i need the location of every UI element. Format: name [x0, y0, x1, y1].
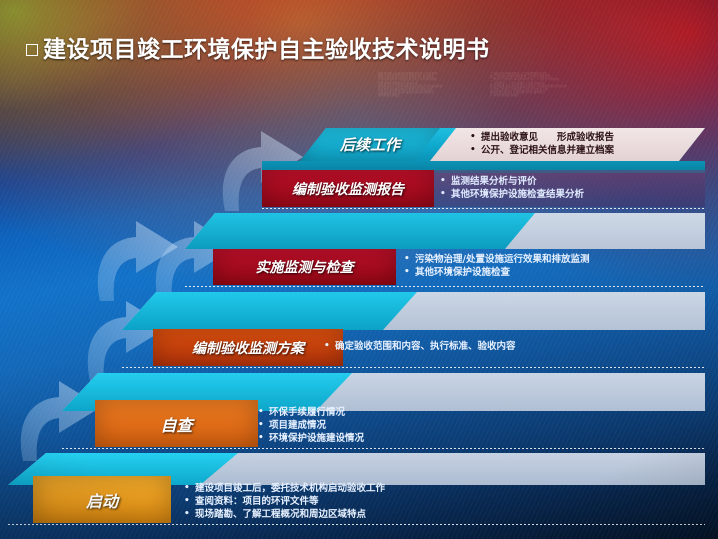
step-fangan-label: 编制验收监测方案 [153, 329, 343, 366]
step-houxu-bullet-1: 提出验收意见 形成验收报告 [470, 131, 614, 144]
slide-canvas: 建设项目竣工环境保护验收技术指南 污染影响类 根据《建设项目环境保护管理条例》有… [0, 0, 718, 539]
step-jiance-top-cyan [185, 213, 535, 249]
step-houxu-bullet-2: 公开、登记相关信息并建立档案 [470, 144, 614, 157]
step-qidong-bullet-3: 现场踏勘、了解工程概况和周边区域特点 [184, 508, 385, 521]
step-qidong-label: 启动 [33, 476, 171, 523]
step-baogao-bullet-2: 其他环境保护设施检查结果分析 [440, 188, 584, 201]
step-baogao-divider [262, 208, 705, 209]
step-fangan-bullet-1: 确定验收范围和内容、执行标准、验收内容 [324, 340, 516, 353]
step-qidong-bullet-1: 建设项目竣工后，委托技术机构启动验收工作 [184, 482, 385, 495]
step-zicha-bullet-3: 环境保护设施建设情况 [258, 432, 364, 445]
step-qidong-divider [8, 524, 705, 525]
step-jiance-bullet-1: 污染物治理/处置设施运行效果和排放监测 [404, 253, 589, 266]
step-fangan-top-cyan [122, 292, 417, 330]
step-qidong-bullet-2: 查阅资料：项目的环评文件等 [184, 495, 385, 508]
title-square-marker [26, 44, 38, 56]
page-title: 建设项目竣工环境保护自主验收技术说明书 [26, 30, 490, 64]
step-zicha-bullet-1: 环保手续履行情况 [258, 406, 364, 419]
step-jiance-label: 实施监测与检查 [213, 249, 396, 285]
step-jiance-bullets: 污染物治理/处置设施运行效果和排放监测 其他环境保护设施检查 [404, 253, 589, 279]
step-baogao-label: 编制验收监测报告 [262, 170, 434, 207]
step-houxu-bullets: 提出验收意见 形成验收报告 公开、登记相关信息并建立档案 [470, 131, 614, 157]
page-title-text: 建设项目竣工环境保护自主验收技术说明书 [43, 37, 490, 63]
step-baogao-bullets: 监测结果分析与评价 其他环境保护设施检查结果分析 [440, 175, 584, 201]
step-jiance-divider [185, 286, 705, 287]
step-zicha-divider [62, 448, 705, 449]
step-zicha-bullets: 环保手续履行情况 项目建成情况 环境保护设施建设情况 [258, 406, 364, 445]
step-jiance-bullet-2: 其他环境保护设施检查 [404, 266, 589, 279]
step-baogao-bullet-1: 监测结果分析与评价 [440, 175, 584, 188]
step-qidong-bullets: 建设项目竣工后，委托技术机构启动验收工作 查阅资料：项目的环评文件等 现场踏勘、… [184, 482, 385, 521]
step-fangan-bullets: 确定验收范围和内容、执行标准、验收内容 [324, 340, 516, 353]
step-zicha-bullet-2: 项目建成情况 [258, 419, 364, 432]
step-zicha-label: 自查 [95, 400, 258, 447]
step-fangan-divider [122, 367, 705, 368]
